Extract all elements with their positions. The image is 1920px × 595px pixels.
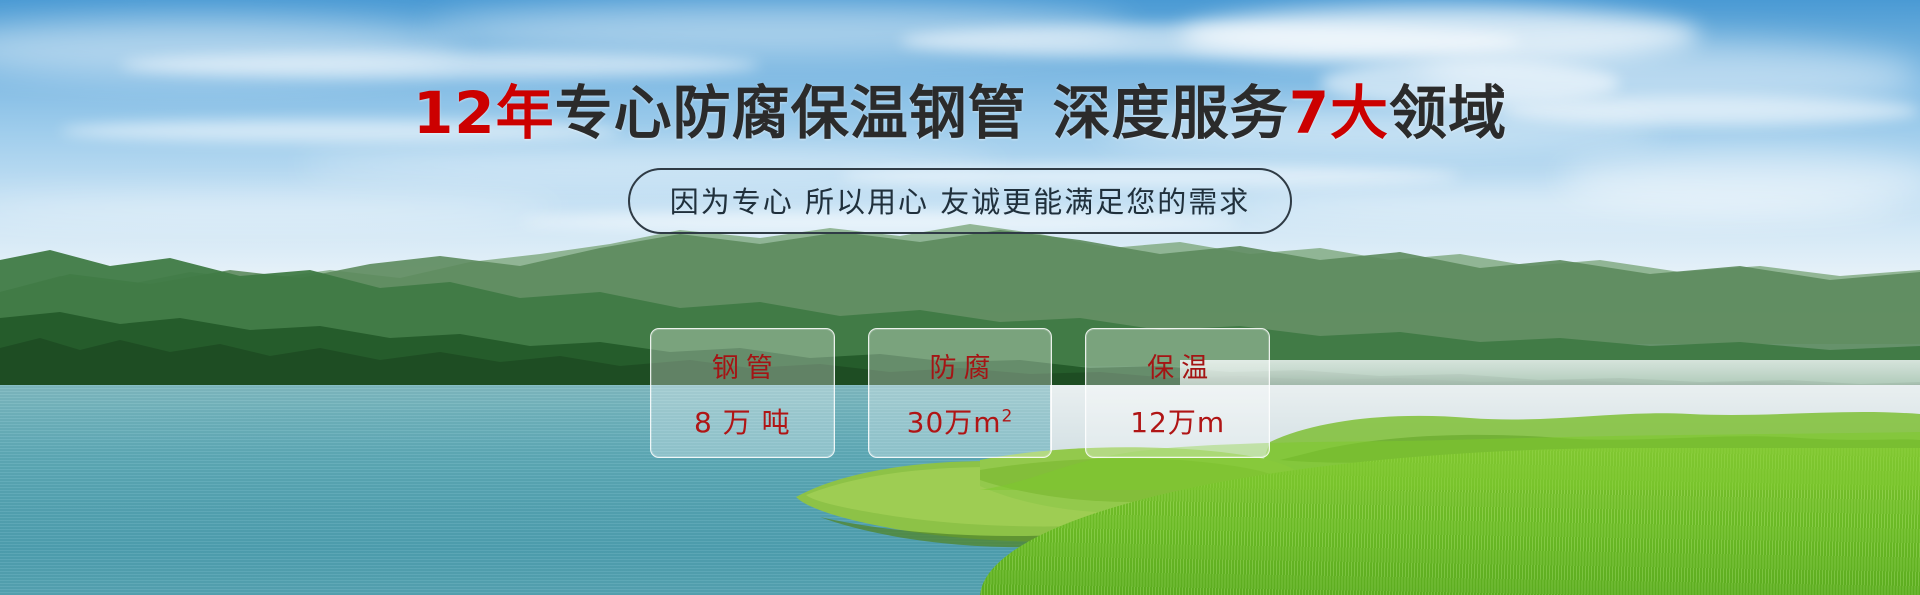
stat-card-steel-pipe[interactable]: 钢管 8 万 吨 xyxy=(650,328,835,458)
cloud-icon xyxy=(120,52,760,78)
headline-main: 专心防腐保温钢管 xyxy=(555,79,1027,147)
stat-card-anticorrosion[interactable]: 防腐 30万m2 xyxy=(868,328,1053,458)
stat-value: 12万m xyxy=(1130,401,1225,441)
stat-value-superscript: 2 xyxy=(1002,406,1014,426)
stat-value: 8 万 吨 xyxy=(694,401,791,441)
stat-value-text: 12万m xyxy=(1130,406,1225,439)
headline-fields: 领域 xyxy=(1389,79,1507,147)
page-title: 12年专心防腐保温钢管深度服务7大领域 xyxy=(0,84,1920,142)
stat-card-insulation[interactable]: 保温 12万m xyxy=(1085,328,1270,458)
stat-title: 防腐 xyxy=(923,346,998,385)
subtitle-pill: 因为专心 所以用心 友诚更能满足您的需求 xyxy=(628,168,1292,234)
stats-row: 钢管 8 万 吨 防腐 30万m2 保温 12万m xyxy=(650,328,1270,456)
headline-years: 12年 xyxy=(413,79,555,147)
headline-service: 深度服务 xyxy=(1053,79,1289,147)
hero-banner: 12年专心防腐保温钢管深度服务7大领域 因为专心 所以用心 友诚更能满足您的需求… xyxy=(0,0,1920,595)
headline-seven: 7大 xyxy=(1289,79,1389,147)
stat-value-text: 30万m xyxy=(907,406,1002,439)
stat-title: 保温 xyxy=(1140,346,1215,385)
subtitle-container: 因为专心 所以用心 友诚更能满足您的需求 xyxy=(0,168,1920,234)
stat-value-text: 8 万 吨 xyxy=(694,406,791,439)
stat-value: 30万m2 xyxy=(907,401,1014,441)
stat-title: 钢管 xyxy=(705,346,780,385)
